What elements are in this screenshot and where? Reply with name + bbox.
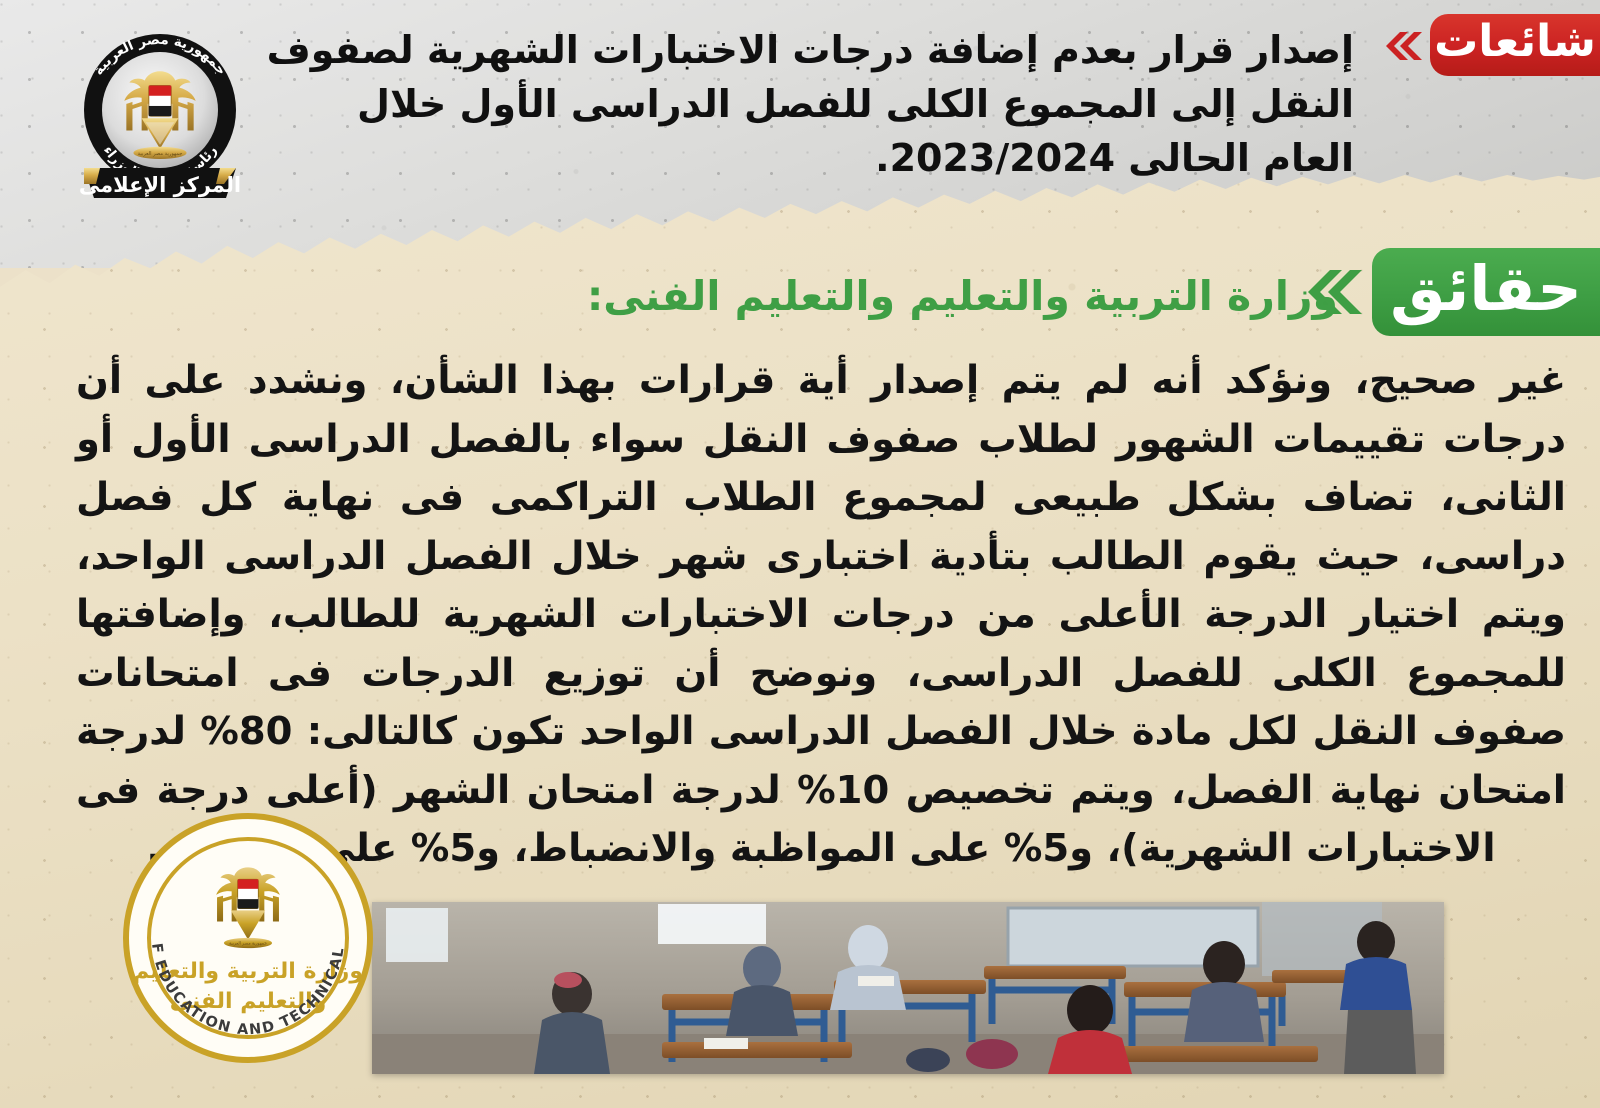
svg-text:جمهورية مصر العربية: جمهورية مصر العربية — [229, 942, 267, 947]
infographic-canvas: جمهورية مصر العربية جمهورية مصر العربية … — [0, 0, 1600, 1108]
ministry-of-education-seal: جمهورية مصر العربية وزارة التربية والتعل… — [122, 812, 374, 1064]
rumor-badge: شائعات — [1430, 14, 1600, 76]
svg-text:جمهورية مصر العربية: جمهورية مصر العربية — [138, 151, 183, 157]
classroom-photo — [372, 902, 1444, 1074]
cabinet-media-center-logo: جمهورية مصر العربية جمهورية مصر العربية … — [62, 18, 262, 214]
double-chevron-left-icon — [1380, 30, 1424, 66]
fact-badge-label: حقائق — [1390, 258, 1582, 320]
rumor-badge-label: شائعات — [1434, 20, 1596, 64]
fact-body-text: غير صحيح، ونؤكد أنه لم يتم إصدار أية قرا… — [76, 352, 1566, 879]
rumor-headline: إصدار قرار بعدم إضافة درجات الاختبارات ا… — [264, 24, 1354, 186]
fact-badge: حقائق — [1372, 248, 1600, 336]
fact-source-label: وزارة التربية والتعليم والتعليم الفنى: — [378, 272, 1338, 321]
cabinet-logo-ribbon-text: المركز الإعلامى — [79, 173, 241, 197]
